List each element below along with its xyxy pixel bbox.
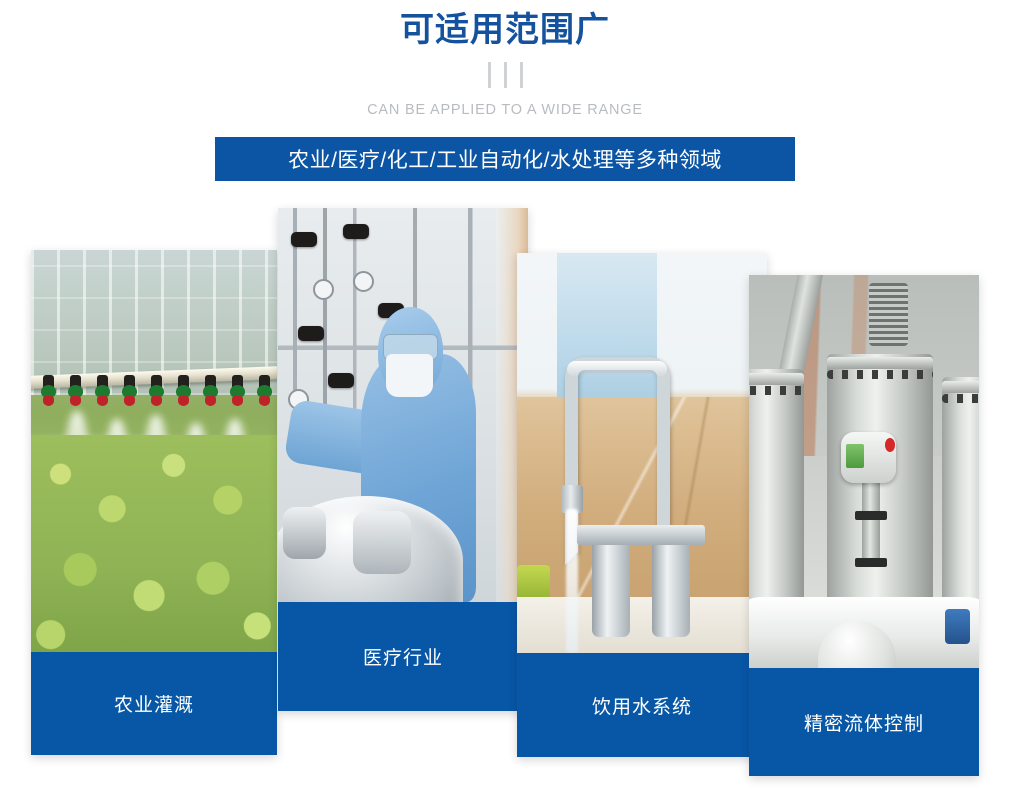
worker-mask (386, 354, 434, 397)
vessel-flange (749, 373, 804, 385)
flange-bolts (942, 394, 979, 403)
top-actuator (869, 283, 908, 346)
applications-section: 可适用范围广 CAN BE APPLIED TO A WIDE RANGE 农业… (0, 0, 1010, 798)
pressure-vessel (749, 369, 804, 613)
crop-field (31, 435, 277, 652)
card-caption-text: 农业灌溉 (114, 690, 194, 717)
pressure-vessel (827, 354, 933, 613)
application-card-drinking-water[interactable]: 饮用水系统 (517, 253, 767, 757)
pressure-gauge (353, 271, 374, 292)
divider-mark-3 (520, 62, 523, 88)
application-card-precision-fluid-control[interactable]: 精密流体控制 (749, 275, 979, 776)
pipe-clamp (855, 558, 887, 567)
faucet-handle-cross (637, 525, 705, 545)
application-card-medical[interactable]: 医疗行业 (278, 208, 528, 711)
blue-valve (945, 609, 970, 644)
faucet-handle (652, 533, 690, 637)
vessel-flange (942, 381, 979, 393)
card-caption-drinking-water: 饮用水系统 (517, 653, 767, 757)
transmitter-stem (862, 479, 880, 565)
card-caption-text: 医疗行业 (363, 643, 443, 670)
divider-mark-1 (488, 62, 491, 88)
countertop (517, 597, 767, 653)
application-card-agriculture[interactable]: 农业灌溉 (31, 250, 277, 755)
valve (343, 224, 369, 239)
page-subtitle: CAN BE APPLIED TO A WIDE RANGE (0, 100, 1010, 120)
valve (291, 232, 317, 247)
industries-banner-text: 农业/医疗/化工/工业自动化/水处理等多种领域 (288, 144, 722, 174)
card-caption-medical: 医疗行业 (278, 602, 528, 711)
divider-marks (0, 62, 1010, 88)
flange-bolts (749, 386, 804, 395)
pipe-clamp (855, 511, 887, 520)
tank-port (283, 507, 326, 558)
card-caption-precision-fluid-control: 精密流体控制 (749, 668, 979, 776)
pressure-vessel (942, 377, 979, 613)
card-photo-agriculture-irrigation (31, 250, 277, 652)
card-caption-text: 精密流体控制 (804, 709, 924, 736)
card-photo-industrial-vessels (749, 275, 979, 668)
pressure-gauge (313, 279, 334, 300)
faucet-handle (592, 533, 630, 637)
flange-bolts (827, 370, 933, 379)
faucet-highlight (567, 361, 667, 377)
divider-mark-2 (504, 62, 507, 88)
valve (298, 326, 324, 341)
card-caption-agriculture: 农业灌溉 (31, 652, 277, 755)
tank-port (353, 511, 411, 574)
card-photo-pharmaceutical-cleanroom (278, 208, 528, 602)
card-caption-text: 饮用水系统 (592, 692, 692, 719)
faucet-handle-cross (577, 525, 645, 545)
vessel-flange (827, 357, 933, 369)
page-title: 可适用范围广 (0, 0, 1010, 52)
industries-banner: 农业/医疗/化工/工业自动化/水处理等多种领域 (215, 137, 795, 181)
valve (328, 373, 354, 388)
transmitter-display (846, 444, 864, 468)
card-photo-faucet-running-water (517, 253, 767, 653)
section-header: 可适用范围广 CAN BE APPLIED TO A WIDE RANGE (0, 0, 1010, 120)
